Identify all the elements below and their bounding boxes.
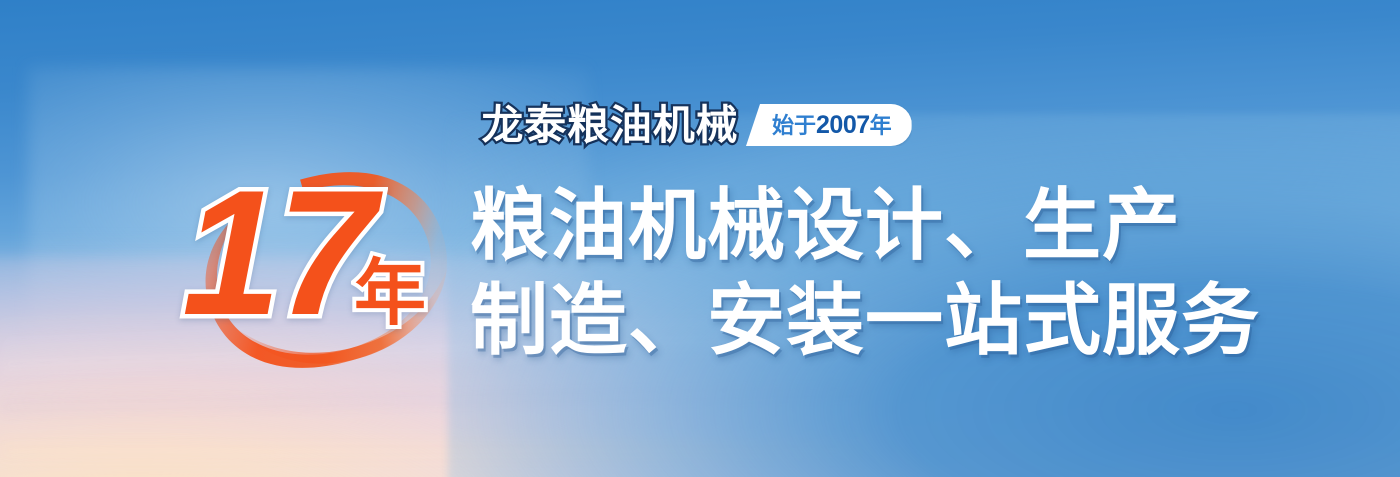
established-suffix: 年 [870, 113, 892, 138]
headline: 粮油机械设计、生产 制造、安装一站式服务 [470, 178, 1260, 368]
established-year-text: 始于2007年 [772, 113, 892, 138]
anniversary-unit: 年 [354, 258, 426, 330]
brand-row: 龙泰粮油机械 始于2007年 [484, 97, 912, 153]
anniversary-badge: 17 年 [176, 168, 476, 373]
established-year-number: 2007 [816, 111, 870, 139]
headline-line-2: 制造、安装一站式服务 [470, 273, 1260, 368]
headline-line-1: 粮油机械设计、生产 [470, 178, 1260, 273]
established-year-badge: 始于2007年 [746, 104, 912, 146]
promotional-banner: 龙泰粮油机械 始于2007年 [0, 0, 1400, 477]
established-prefix: 始于 [772, 113, 816, 138]
brand-name: 龙泰粮油机械 [481, 105, 738, 146]
anniversary-number: 17 [182, 164, 372, 342]
